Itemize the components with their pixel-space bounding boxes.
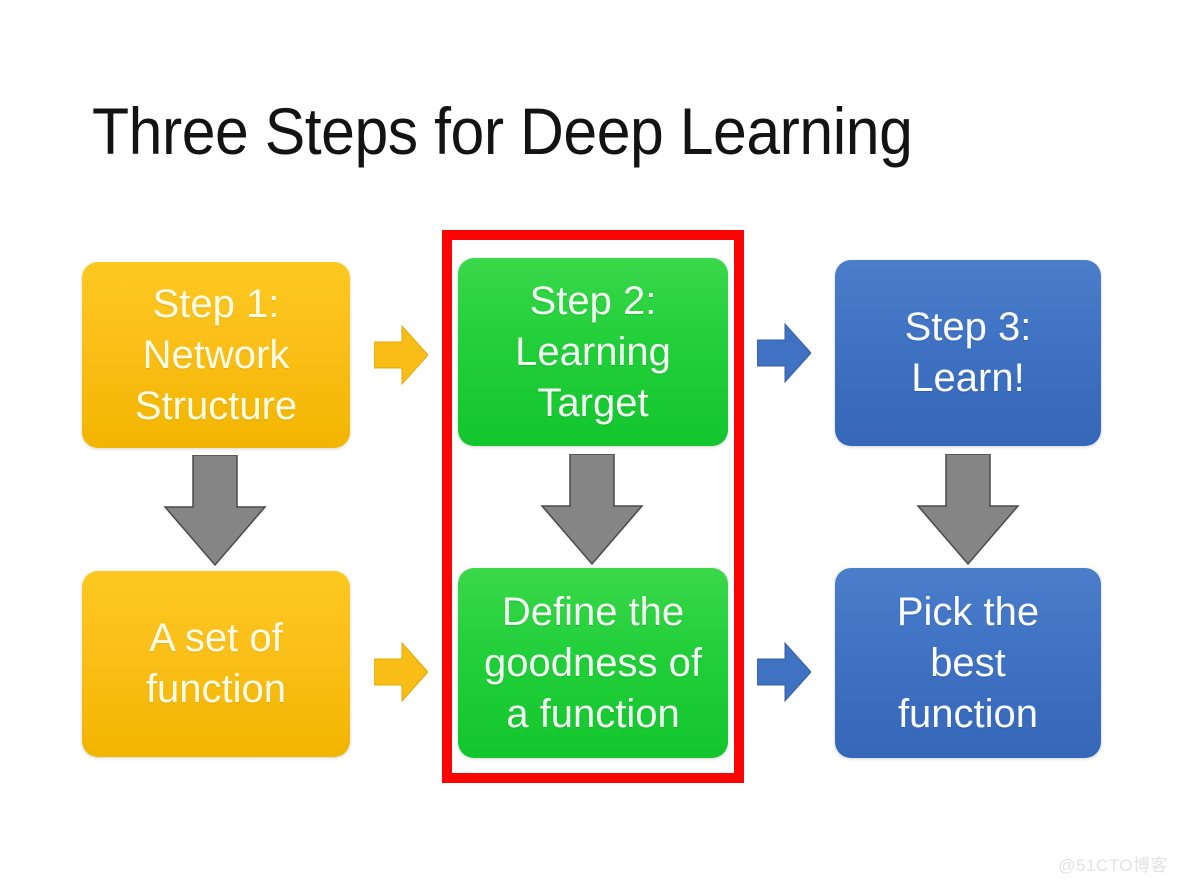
process-box-set-of-function-label: A set of function [92, 613, 340, 715]
process-box-set-of-function[interactable]: A set of function [82, 571, 350, 757]
process-box-step1[interactable]: Step 1: Network Structure [82, 262, 350, 448]
process-box-pick-best-function[interactable]: Pick the best function [835, 568, 1101, 758]
page-title: Three Steps for Deep Learning [92, 88, 1012, 174]
process-box-define-goodness[interactable]: Define the goodness of a function [458, 568, 728, 758]
arrow-down-icon-step1-to-setfn [163, 455, 267, 567]
process-box-step1-label: Step 1: Network Structure [92, 279, 340, 432]
arrow-down-icon-step2-to-goodness [540, 454, 644, 566]
arrow-right-icon-goodness-to-pickbest [757, 641, 811, 703]
process-box-pick-best-function-label: Pick the best function [845, 587, 1091, 740]
arrow-right-icon-step2-to-step3 [757, 322, 811, 384]
arrow-down-icon-step3-to-pickbest [916, 454, 1020, 566]
arrow-right-icon-setfn-to-goodness [374, 641, 428, 703]
watermark-label: @51CTO博客 [1058, 851, 1168, 876]
process-box-step2-label: Step 2: Learning Target [468, 276, 718, 429]
process-box-step3[interactable]: Step 3: Learn! [835, 260, 1101, 446]
process-box-step2[interactable]: Step 2: Learning Target [458, 258, 728, 446]
arrow-right-icon-step1-to-step2 [374, 324, 428, 386]
process-box-define-goodness-label: Define the goodness of a function [468, 587, 718, 740]
process-box-step3-label: Step 3: Learn! [845, 302, 1091, 404]
slide-canvas: Three Steps for Deep Learning Step 1: Ne… [0, 0, 1184, 888]
